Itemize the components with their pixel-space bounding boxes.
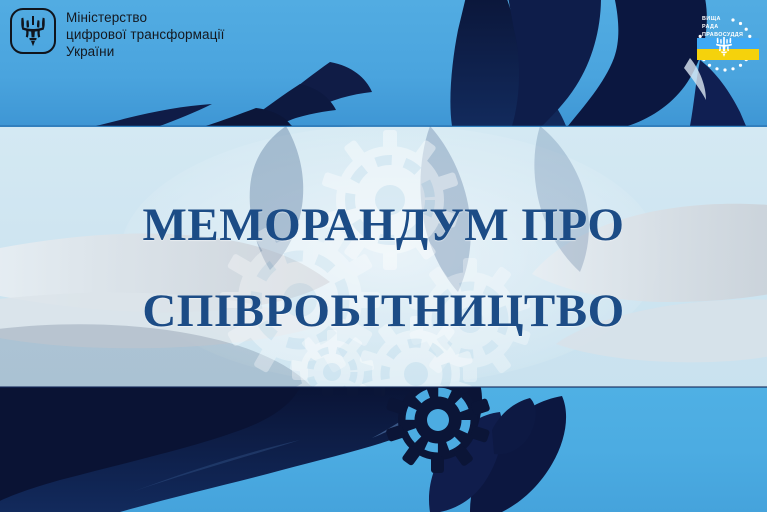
ministry-line-2: цифрової трансформації [66,26,224,43]
page-title: МЕМОРАНДУМ ПРО СПІВРОБІТНИЦТВО [0,182,767,354]
title-line-1: МЕМОРАНДУМ ПРО [0,182,767,268]
hcj-line-3: ПРАВОСУДДЯ [702,32,743,38]
ministry-line-1: Міністерство [66,9,224,26]
ukrainian-trident-emblem [10,8,56,54]
trident-icon [20,15,46,47]
high-council-of-justice-logo: ВИЩА РАДА ПРАВОСУДДЯ [671,6,759,98]
ministry-logo-text: Міністерство цифрової трансформації Укра… [66,8,224,60]
band-separator-upper [0,125,767,127]
bottom-band-hands-and-gear [0,367,566,512]
band-separator-lower [0,386,767,388]
memorandum-slide: Міністерство цифрової трансформації Укра… [0,0,767,512]
ministry-line-3: України [66,43,224,60]
title-line-2: СПІВРОБІТНИЦТВО [0,268,767,354]
hcj-line-2: РАДА [702,24,719,30]
ministry-of-digital-transformation-logo: Міністерство цифрової трансформації Укра… [10,8,224,60]
hcj-line-1: ВИЩА [702,16,721,22]
